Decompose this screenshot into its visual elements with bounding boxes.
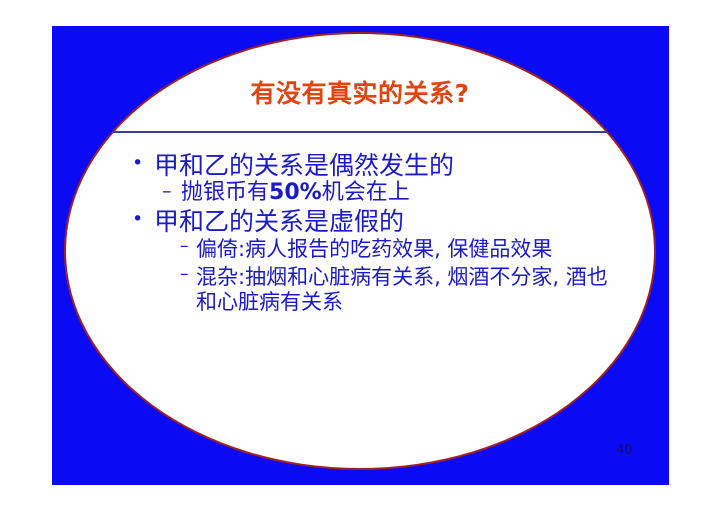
bullet-text: 抛银币有50%机会在上	[181, 181, 618, 206]
bullet-text: 偏倚:病人报告的吃药效果, 保健品效果	[196, 237, 614, 262]
bullet-marker-dash: –	[162, 181, 181, 202]
title-divider	[112, 131, 608, 133]
page-number: 40	[616, 443, 633, 458]
bullet-marker-dash: –	[180, 265, 196, 285]
slide-canvas: 有没有真实的关系? • 甲和乙的关系是偶然发生的 – 抛银币有50%机会在上 •…	[0, 0, 720, 509]
bullet-item-5: – 混杂:抽烟和心脏病有关系, 烟酒不分家, 酒也和心脏病有关系	[118, 265, 618, 315]
bullet-item-4: – 偏倚:病人报告的吃药效果, 保健品效果	[118, 237, 618, 262]
slide-title: 有没有真实的关系?	[112, 80, 608, 108]
bullet-text: 甲和乙的关系是偶然发生的	[154, 152, 618, 180]
slide-body: • 甲和乙的关系是偶然发生的 – 抛银币有50%机会在上 • 甲和乙的关系是虚假…	[118, 152, 618, 319]
bullet-text-emphasis: 50%	[269, 180, 322, 205]
bullet-marker-dash: –	[180, 237, 196, 257]
bullet-item-2: – 抛银币有50%机会在上	[118, 181, 618, 206]
bullet-item-1: • 甲和乙的关系是偶然发生的	[118, 152, 618, 180]
bullet-marker-dot: •	[132, 208, 154, 231]
bullet-text: 混杂:抽烟和心脏病有关系, 烟酒不分家, 酒也和心脏病有关系	[196, 265, 614, 315]
bullet-text-before: 抛银币有	[181, 180, 269, 205]
bullet-marker-dot: •	[132, 152, 154, 175]
bullet-item-3: • 甲和乙的关系是虚假的	[118, 208, 618, 236]
bullet-text-after: 机会在上	[322, 180, 410, 205]
bullet-text: 甲和乙的关系是虚假的	[154, 208, 618, 236]
